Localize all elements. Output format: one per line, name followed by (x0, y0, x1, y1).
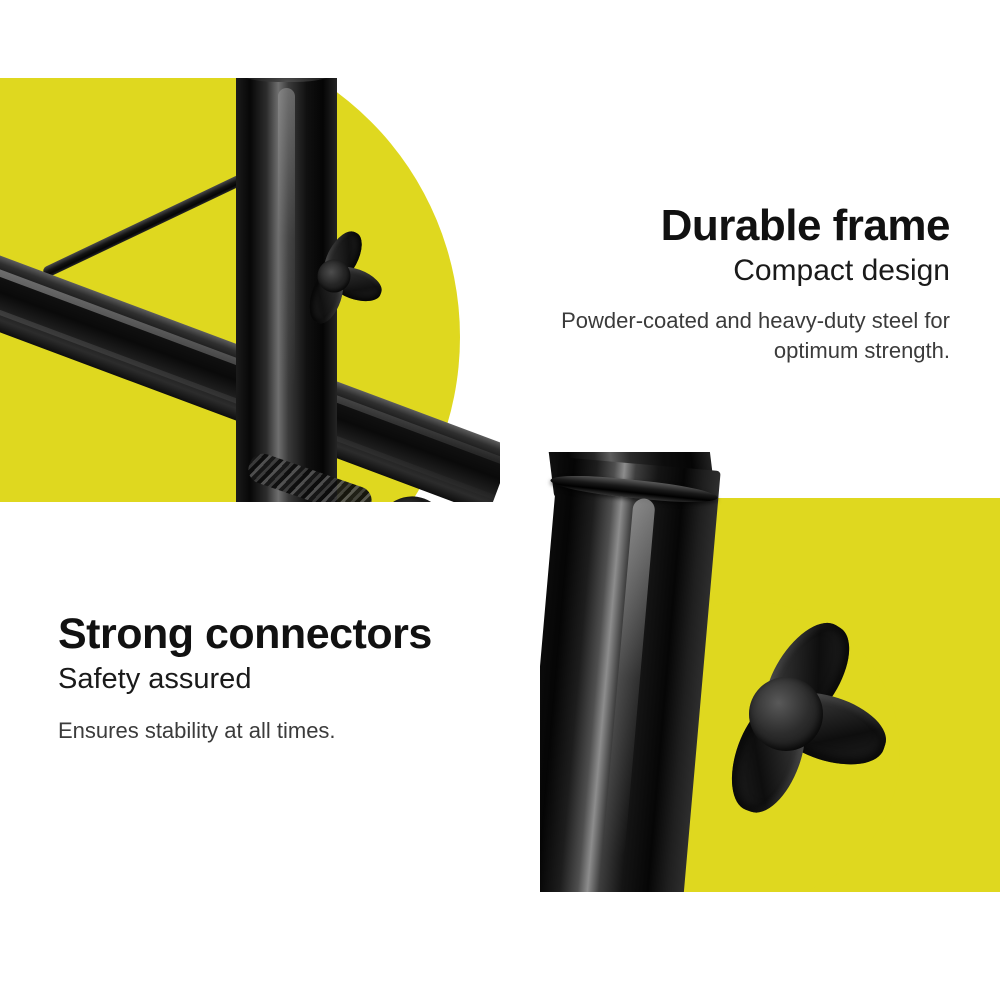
knob-hub (318, 260, 351, 293)
feature-subtitle: Compact design (480, 254, 950, 288)
feature-subtitle: Safety assured (58, 663, 518, 695)
knob-closeup-photo (540, 452, 1000, 892)
feature-text-strong-connectors: Strong connectors Safety assured Ensures… (58, 612, 518, 745)
feature-body: Ensures stability at all times. (58, 716, 518, 746)
feature-title: Strong connectors (58, 612, 518, 656)
knob-hub (749, 677, 823, 751)
feature-title: Durable frame (480, 203, 950, 248)
frame-joint-photo (0, 78, 500, 502)
feature-body: Powder-coated and heavy-duty steel for o… (480, 306, 950, 365)
feature-collage: Durable frame Compact design Powder-coat… (0, 0, 1000, 1000)
star-knob (288, 228, 380, 324)
star-knob (688, 614, 884, 814)
feature-text-durable-frame: Durable frame Compact design Powder-coat… (480, 203, 950, 365)
